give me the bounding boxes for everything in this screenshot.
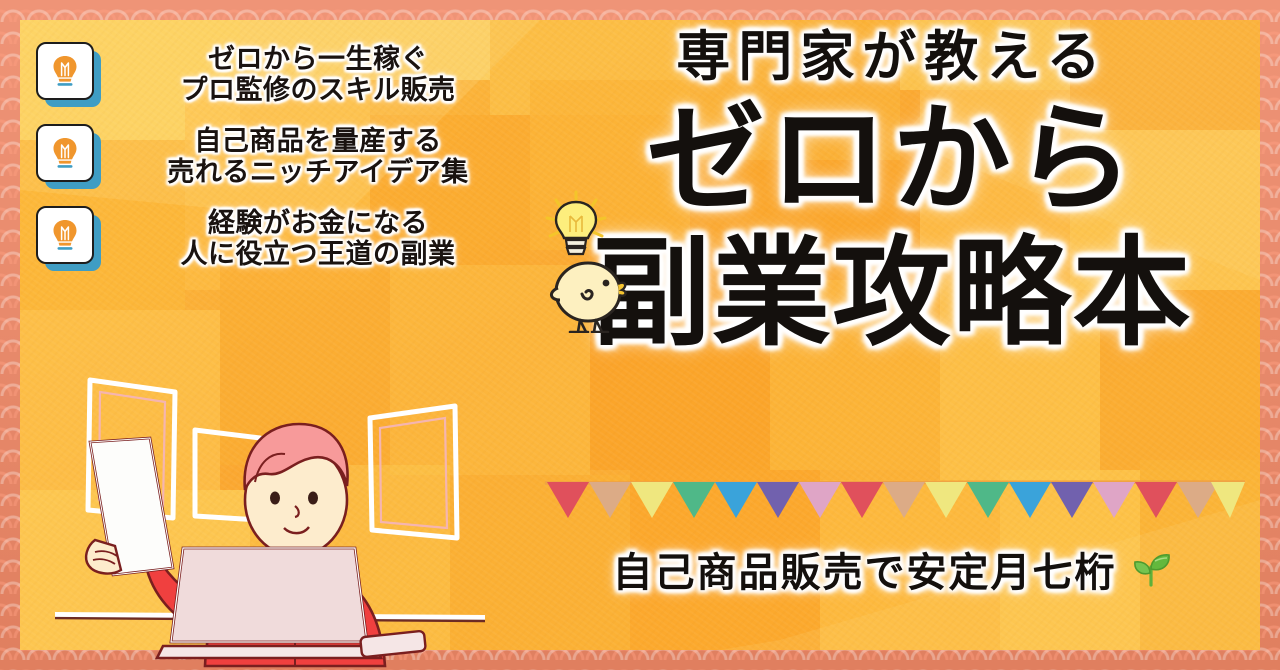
illustration-svg <box>55 370 485 670</box>
icon-card <box>36 124 94 182</box>
man-with-laptop-illustration <box>55 370 485 670</box>
lightbulb-icon <box>36 42 102 108</box>
bunting-flag <box>883 482 925 518</box>
sprout-icon <box>1129 547 1173 591</box>
hand <box>86 540 121 573</box>
headline-kicker: 専門家が教える <box>520 24 1265 92</box>
bunting-banner <box>545 478 1245 520</box>
chick-character <box>536 188 646 333</box>
laptop-base <box>157 646 381 658</box>
eye-left <box>270 492 280 505</box>
list-item: ゼロから一生稼ぐ プロ監修のスキル販売 <box>36 42 526 108</box>
bunting-flag <box>757 482 799 518</box>
icon-card <box>36 206 94 264</box>
bullet-text: 自己商品を量産する 売れるニッチアイデア集 <box>110 126 526 189</box>
bunting-flag <box>1009 482 1051 518</box>
bulb-glyph <box>50 218 80 252</box>
bullet-line-2: プロ監修のスキル販売 <box>110 75 526 106</box>
bunting-svg <box>545 478 1245 520</box>
bullet-line-1: ゼロから一生稼ぐ <box>208 44 428 74</box>
bulb-glyph <box>50 136 80 170</box>
lightbulb-icon <box>36 206 102 272</box>
icon-card <box>36 42 94 100</box>
bullet-line-1: 経験がお金になる <box>208 208 428 238</box>
bulb-glyph <box>50 54 80 88</box>
bunting-flag <box>1177 482 1219 518</box>
bunting-flag <box>1135 482 1177 518</box>
bullet-line-2: 売れるニッチアイデア集 <box>110 157 526 188</box>
tagline-text: 自己商品販売で安定月七桁 <box>613 540 1117 598</box>
laptop-screen <box>171 548 367 642</box>
promo-banner: ゼロから一生稼ぐ プロ監修のスキル販売 自己商品を量産する 売れるニッチ <box>0 0 1280 670</box>
bunting-flag <box>841 482 883 518</box>
tagline-row: 自己商品販売で安定月七桁 <box>520 540 1265 598</box>
bunting-flag <box>1093 482 1135 518</box>
bunting-flag <box>1211 482 1245 518</box>
lightbulb-icon <box>36 124 102 190</box>
bunting-flag <box>547 482 589 518</box>
sprout-svg <box>1129 547 1173 591</box>
bunting-flag <box>799 482 841 518</box>
idea-bulb-icon <box>547 192 605 254</box>
bullet-text: 経験がお金になる 人に役立つ王道の副業 <box>110 208 526 271</box>
bunting-flag <box>1051 482 1093 518</box>
list-item: 経験がお金になる 人に役立つ王道の副業 <box>36 206 526 272</box>
bullet-text: ゼロから一生稼ぐ プロ監修のスキル販売 <box>110 44 526 107</box>
bunting-flag <box>673 482 715 518</box>
bullet-line-2: 人に役立つ王道の副業 <box>110 239 526 270</box>
bunting-flag <box>925 482 967 518</box>
list-item: 自己商品を量産する 売れるニッチアイデア集 <box>36 124 526 190</box>
eye-right <box>308 492 318 505</box>
bunting-flag <box>967 482 1009 518</box>
bunting-flag <box>589 482 631 518</box>
bunting-flag <box>715 482 757 518</box>
feature-bullet-list: ゼロから一生稼ぐ プロ監修のスキル販売 自己商品を量産する 売れるニッチ <box>36 42 526 288</box>
bullet-line-1: 自己商品を量産する <box>194 126 442 156</box>
chick-body <box>551 263 625 332</box>
bunting-flags <box>547 482 1245 518</box>
bunting-flag <box>631 482 673 518</box>
chick-svg <box>536 188 646 333</box>
